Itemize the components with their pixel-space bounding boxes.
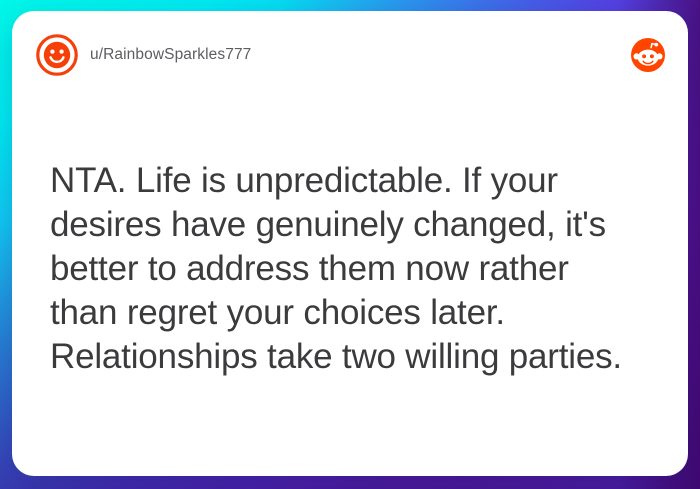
gradient-background: u/RainbowSparkles777 xyxy=(0,0,700,489)
card-header: u/RainbowSparkles777 xyxy=(12,11,688,99)
post-body: NTA. Life is unpredictable. If your desi… xyxy=(50,159,662,379)
avatar[interactable] xyxy=(36,34,78,76)
reddit-logo xyxy=(630,37,666,73)
smiley-face-avatar-icon xyxy=(36,34,78,76)
reddit-comment-card: u/RainbowSparkles777 xyxy=(12,11,688,476)
author-group[interactable]: u/RainbowSparkles777 xyxy=(36,34,630,76)
post-body-text: NTA. Life is unpredictable. If your desi… xyxy=(50,159,662,379)
author-username[interactable]: u/RainbowSparkles777 xyxy=(90,46,251,64)
reddit-snoo-icon xyxy=(630,37,666,73)
